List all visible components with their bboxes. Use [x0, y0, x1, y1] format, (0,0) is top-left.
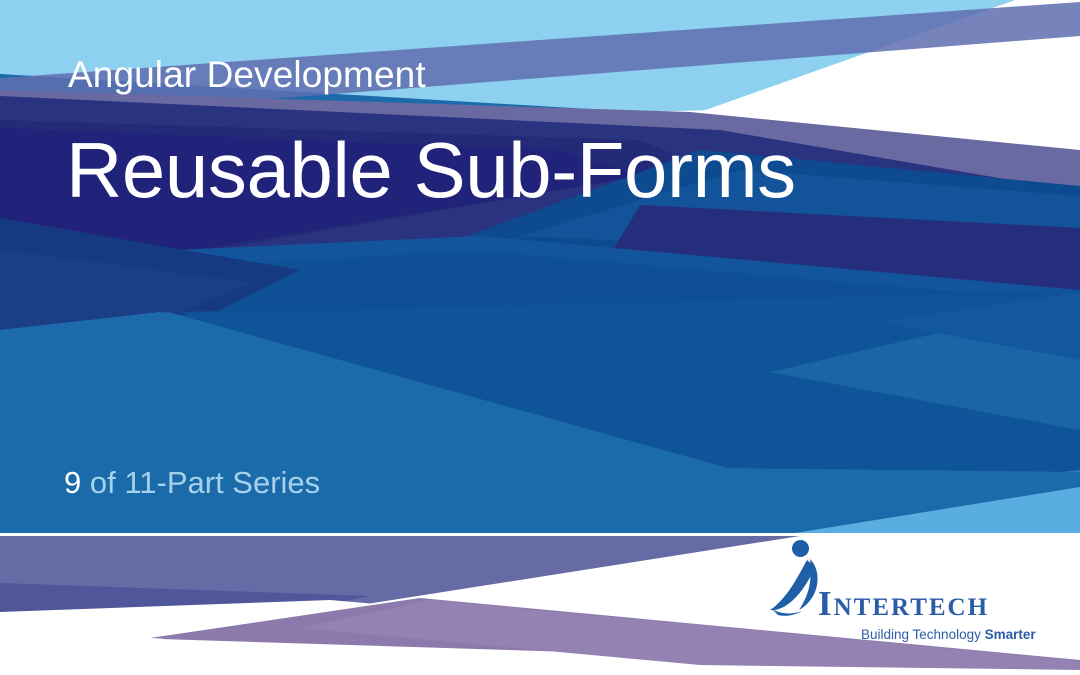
slide-text-layer: Angular Development Reusable Sub-Forms 9…	[0, 0, 1080, 675]
logo-mark-head	[792, 540, 809, 557]
intertech-logo: Intertech Building Technology Smarter	[766, 539, 1052, 651]
slide-eyebrow-text: Angular Development	[68, 56, 426, 93]
intertech-wordmark: Intertech	[818, 586, 989, 621]
presentation-slide: Angular Development Reusable Sub-Forms 9…	[0, 0, 1080, 675]
series-label: 9 of 11-Part Series	[64, 467, 320, 498]
tagline-regular: Building Technology	[861, 627, 985, 642]
series-number: 9	[64, 465, 81, 500]
slide-title: Reusable Sub-Forms	[66, 131, 796, 209]
logo-mark-body-left	[770, 560, 815, 610]
logo-mark-base	[772, 609, 802, 616]
intertech-tagline: Building Technology Smarter	[861, 628, 1036, 642]
tagline-bold: Smarter	[985, 627, 1036, 642]
series-rest: of 11-Part Series	[81, 465, 320, 500]
